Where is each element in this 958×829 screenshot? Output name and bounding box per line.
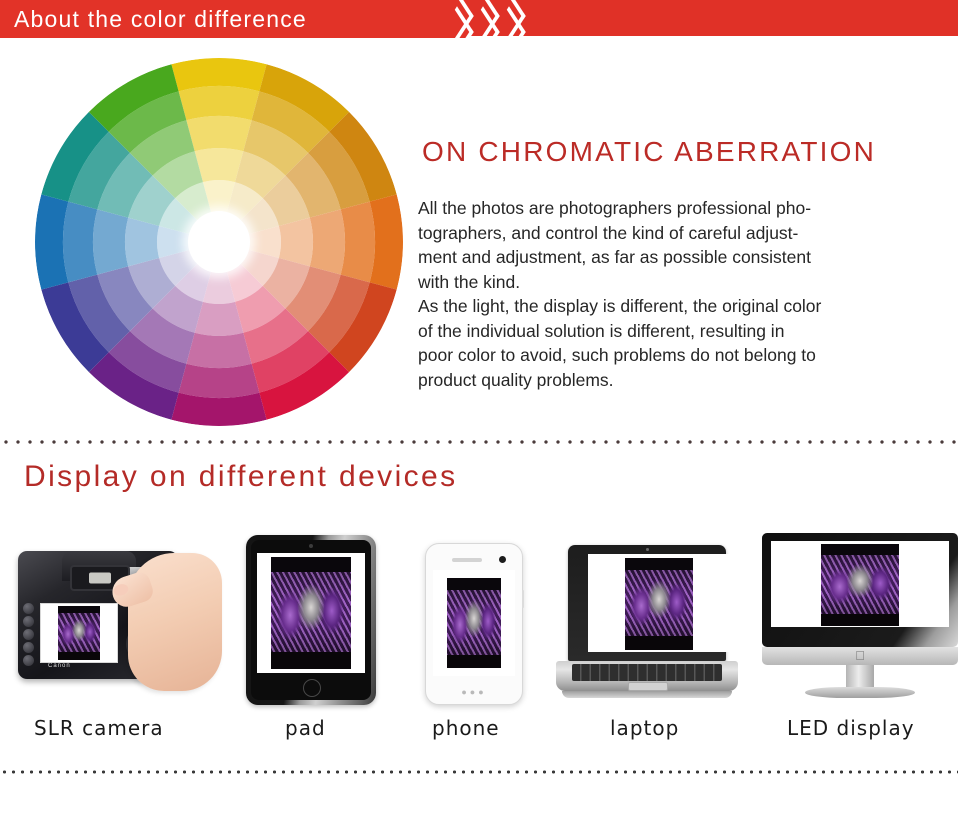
para1-line: ment and adjustment, as far as possible … xyxy=(418,247,811,267)
tablet-screen xyxy=(257,553,365,673)
para1-line: tographers, and control the kind of care… xyxy=(418,223,798,243)
label-pad: pad xyxy=(285,716,326,740)
power-button[interactable] xyxy=(522,590,524,608)
laptop-foot xyxy=(562,691,732,698)
apple-logo-icon:  xyxy=(854,649,866,663)
monitor-stand-foot xyxy=(805,687,915,698)
label-slr-camera: SLR camera xyxy=(34,716,164,740)
label-phone: phone xyxy=(432,716,500,740)
keyboard[interactable] xyxy=(572,664,722,681)
monitor-panel xyxy=(762,533,958,647)
para2-line: poor color to avoid, such problems do no… xyxy=(418,345,816,365)
trackpad[interactable] xyxy=(628,682,668,691)
hand-holding-camera xyxy=(128,553,222,691)
banner-title: About the color difference xyxy=(14,3,444,35)
product-image xyxy=(625,558,693,650)
camera-lcd-screen xyxy=(40,603,118,663)
laptop-lid xyxy=(568,545,726,661)
chromatic-paragraph-1: All the photos are photographers profess… xyxy=(418,196,900,294)
para2-line: As the light, the display is different, … xyxy=(418,296,821,316)
label-laptop: laptop xyxy=(610,716,679,740)
device-phone: ●●● xyxy=(425,543,523,705)
para2-line: product quality problems. xyxy=(418,370,614,390)
camera-buttons xyxy=(23,603,36,665)
earpiece-speaker xyxy=(452,558,482,562)
camera-brand-label: Canon xyxy=(48,663,71,669)
front-camera-icon xyxy=(309,544,313,548)
color-wheel xyxy=(35,58,403,426)
laptop-screen xyxy=(588,554,730,652)
front-camera-icon xyxy=(499,556,506,563)
device-led-display:  xyxy=(762,533,958,705)
monitor-screen xyxy=(771,541,949,627)
section-divider-top xyxy=(0,440,958,444)
device-pad xyxy=(246,535,376,705)
home-button-icon[interactable] xyxy=(303,679,321,697)
product-image xyxy=(447,578,501,668)
phone-screen xyxy=(433,570,515,676)
chevron-right-icon xyxy=(492,0,538,44)
section-divider-bottom xyxy=(0,770,958,774)
product-image xyxy=(271,557,351,669)
para1-line: with the kind. xyxy=(418,272,520,292)
laptop-base xyxy=(556,661,738,691)
banner-chevron-group xyxy=(440,0,570,44)
webcam-icon xyxy=(646,548,649,551)
device-labels: SLR camera pad phone laptop LED display xyxy=(0,716,958,752)
device-laptop xyxy=(556,545,738,705)
chromatic-text-block: ON CHROMATIC ABERRATION All the photos a… xyxy=(418,136,918,392)
devices-row: Canon ●●● xyxy=(0,505,958,705)
device-slr-camera: Canon xyxy=(8,529,234,705)
page-title: ON CHROMATIC ABERRATION xyxy=(422,136,918,168)
nav-bar-icon[interactable]: ●●● xyxy=(454,687,494,695)
product-image xyxy=(58,606,100,660)
para2-line: of the individual solution is different,… xyxy=(418,321,784,341)
label-led-display: LED display xyxy=(787,716,915,740)
color-wheel-hub xyxy=(188,211,250,273)
devices-section-heading: Display on different devices xyxy=(24,460,458,494)
para1-line: All the photos are photographers profess… xyxy=(418,198,811,218)
monitor-stand-neck xyxy=(846,665,874,689)
product-image xyxy=(821,544,899,626)
page-banner: About the color difference xyxy=(0,0,958,44)
chromatic-paragraph-2: As the light, the display is different, … xyxy=(418,294,900,392)
